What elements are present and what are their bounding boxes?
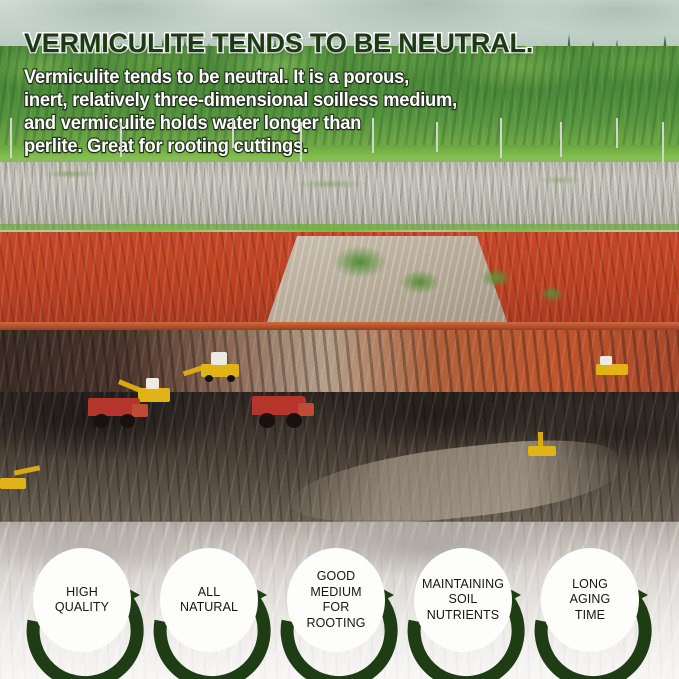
light-pole [232, 118, 234, 148]
yellow-excavator-icon [183, 352, 241, 380]
page-subtitle: Vermiculite tends to be neutral. It is a… [24, 66, 466, 158]
flow-step-line: NUTRIENTS [422, 608, 504, 624]
flow-step-label: MAINTAINING SOIL NUTRIENTS [422, 577, 504, 624]
flow-step-soil-nutrients[interactable]: MAINTAINING SOIL NUTRIENTS [414, 548, 512, 652]
flow-step-line: HIGH [55, 585, 109, 601]
light-pole [560, 122, 562, 157]
red-dump-truck-icon [252, 396, 316, 430]
flow-step-label: LONG AGING TIME [570, 577, 611, 624]
subtitle-line: Vermiculite tends to be neutral. It is a… [24, 66, 466, 89]
red-ore-bench-lower [0, 330, 679, 400]
light-pole [662, 122, 664, 162]
light-pole [120, 122, 122, 157]
light-pole [300, 122, 302, 162]
page-title: VERMICULITE TENDS TO BE NEUTRAL. [24, 28, 664, 59]
flow-step-label: GOOD MEDIUM FOR ROOTING [306, 569, 365, 631]
poster-root: VERMICULITE TENDS TO BE NEUTRAL. Vermicu… [0, 0, 679, 679]
flow-step-line: MAINTAINING [422, 577, 504, 593]
flow-step-line: SOIL [422, 592, 504, 608]
flow-step-line: ROOTING [306, 616, 365, 632]
light-pole [436, 122, 438, 152]
subtitle-line: perlite. Great for rooting cuttings. [24, 135, 466, 158]
slump-bushes [290, 238, 590, 318]
flow-step-high-quality[interactable]: HIGH QUALITY [33, 548, 131, 652]
benefits-flow-diagram: HIGH QUALITY ALL NATURAL GOOD MEDIUM FOR… [0, 522, 679, 679]
flow-step-line: AGING [570, 592, 611, 608]
yellow-excavator-icon [0, 466, 42, 492]
light-pole [616, 118, 618, 148]
flow-step-line: TIME [570, 608, 611, 624]
light-pole [372, 118, 374, 153]
flow-step-line: LONG [570, 577, 611, 593]
flow-step-all-natural[interactable]: ALL NATURAL [160, 548, 258, 652]
subtitle-line: inert, relatively three-dimensional soil… [24, 89, 466, 112]
flow-step-line: GOOD [306, 569, 365, 585]
flow-step-line: FOR [306, 600, 365, 616]
light-pole [500, 118, 502, 158]
flow-step-line: MEDIUM [306, 585, 365, 601]
flow-step-long-aging-time[interactable]: LONG AGING TIME [541, 548, 639, 652]
flow-step-line: NATURAL [180, 600, 238, 616]
flow-step-line: QUALITY [55, 600, 109, 616]
yellow-excavator-icon [528, 432, 558, 458]
flow-step-line: ALL [180, 585, 238, 601]
light-pole [10, 118, 12, 158]
red-dump-truck-icon [88, 398, 150, 430]
flow-step-good-medium-rooting[interactable]: GOOD MEDIUM FOR ROOTING [287, 548, 385, 652]
flow-step-label: HIGH QUALITY [55, 585, 109, 616]
gravel-terrace-band [0, 162, 679, 230]
flow-step-label: ALL NATURAL [180, 585, 238, 616]
yellow-excavator-icon [596, 356, 630, 378]
subtitle-line: and vermiculite holds water longer than [24, 112, 466, 135]
